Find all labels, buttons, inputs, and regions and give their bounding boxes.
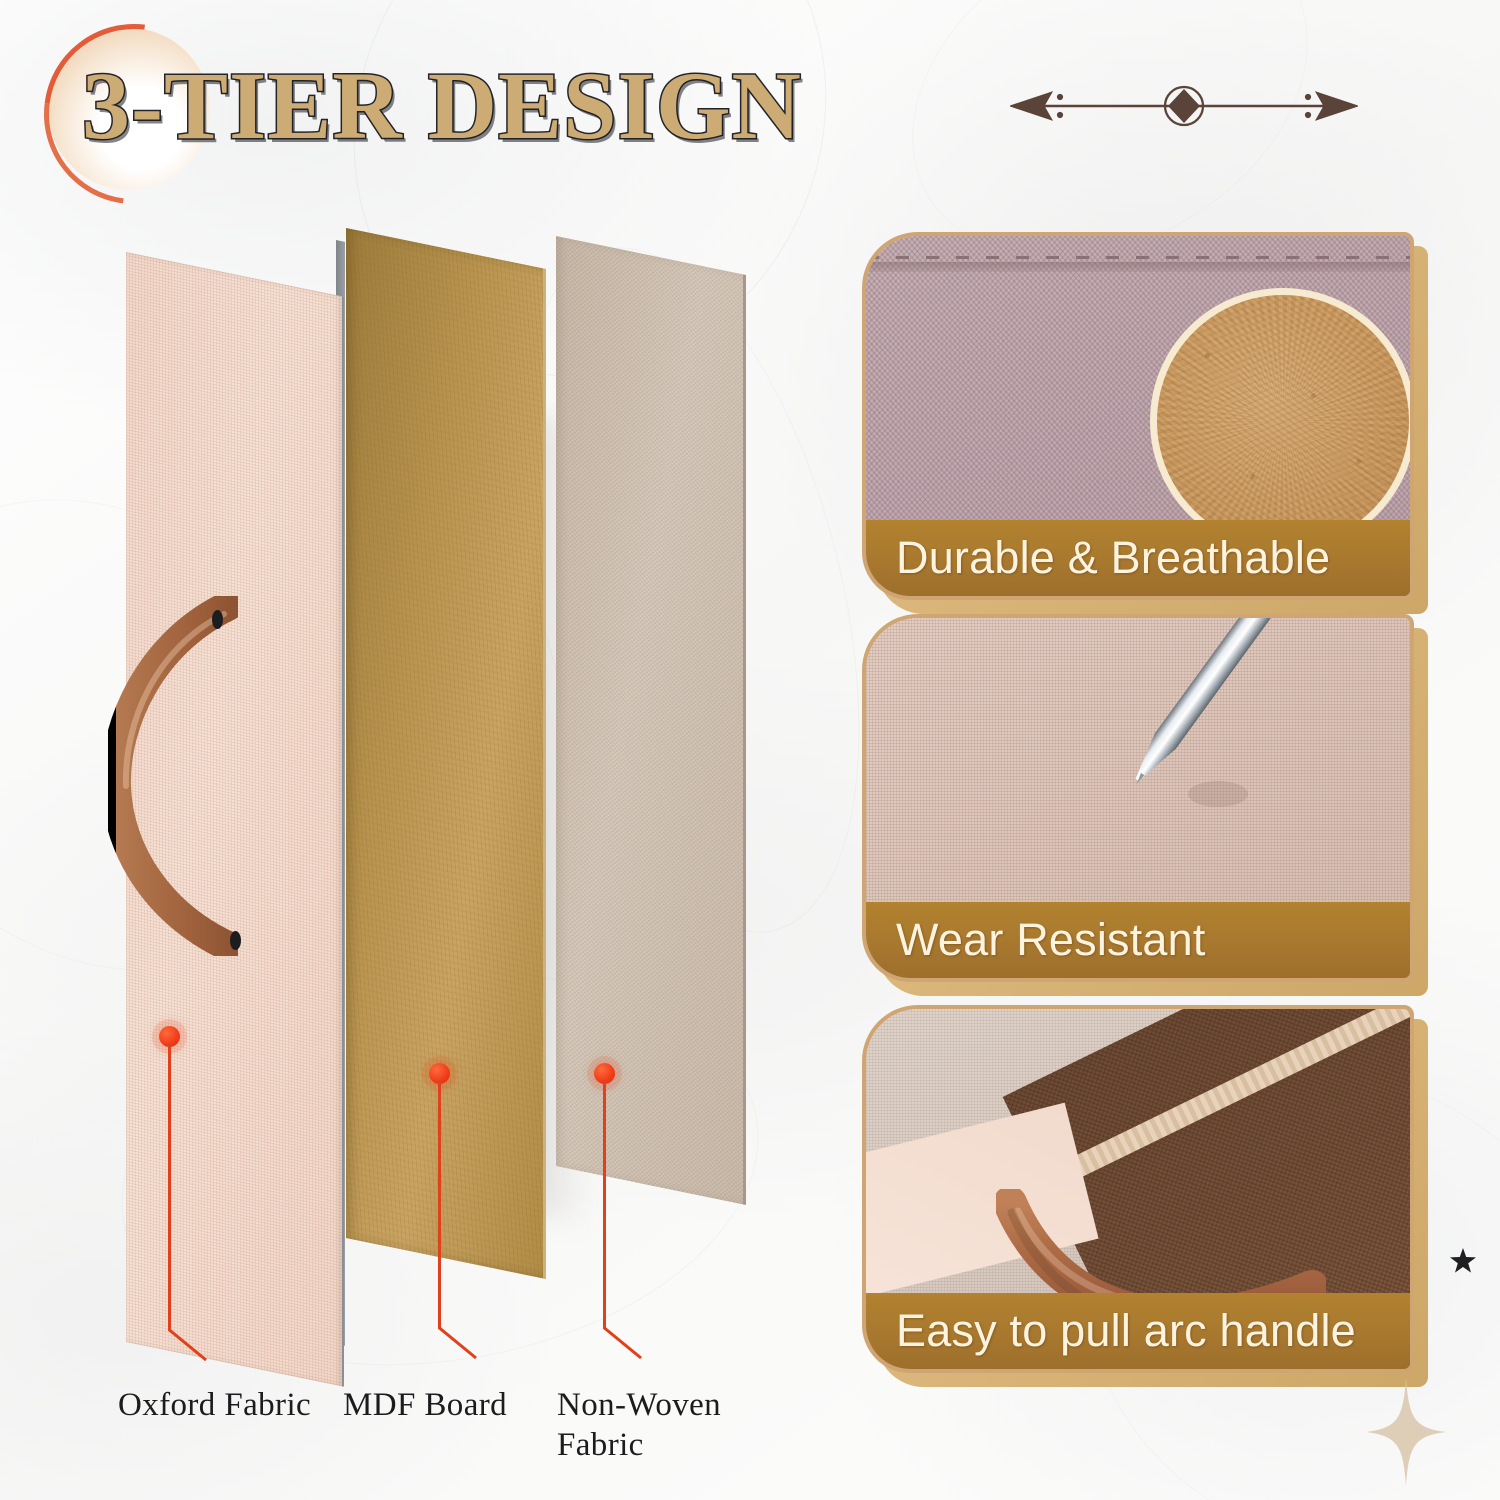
- exploded-layer-diagram: Oxford Fabric MDF Board Non-Woven Fabric: [0, 0, 840, 1500]
- layer-label-nonwoven-line2: Fabric: [557, 1427, 644, 1463]
- layer-label-nonwoven-line1: Non-Woven: [557, 1387, 721, 1423]
- fabric-seam: [866, 262, 1410, 272]
- card-body: Easy to pull arc handle: [862, 1005, 1414, 1373]
- card-caption-bar: Easy to pull arc handle: [866, 1293, 1410, 1369]
- leader-line-oxford: [120, 1030, 360, 1390]
- infographic-canvas: 3-TIER DESIGN: [0, 0, 1500, 1500]
- card-caption-bar: Durable & Breathable: [866, 520, 1410, 596]
- feature-card-handle[interactable]: Easy to pull arc handle: [862, 1005, 1414, 1373]
- ornamental-divider-icon: [1010, 84, 1358, 128]
- feature-caption-wear: Wear Resistant: [896, 914, 1206, 966]
- arc-handle-icon: [108, 596, 238, 956]
- card-caption-bar: Wear Resistant: [866, 902, 1410, 978]
- layer-label-nonwoven: Non-Woven Fabric: [557, 1385, 787, 1466]
- feature-caption-durable: Durable & Breathable: [896, 532, 1330, 584]
- five-point-star-icon: [1450, 1248, 1476, 1274]
- layer-label-mdf: MDF Board: [343, 1385, 507, 1425]
- layer-label-oxford: Oxford Fabric: [118, 1385, 311, 1425]
- stitch-line: [866, 256, 1410, 259]
- card-body: Wear Resistant: [862, 614, 1414, 982]
- feature-caption-handle: Easy to pull arc handle: [896, 1305, 1356, 1357]
- layer-panel-nonwoven: [556, 236, 746, 1205]
- handle-screw-hole: [212, 610, 223, 629]
- four-point-sparkle-icon: [1366, 1378, 1446, 1486]
- leader-line-nonwoven: [565, 1068, 765, 1398]
- card-body: Durable & Breathable: [862, 232, 1414, 600]
- feature-card-wear[interactable]: Wear Resistant: [862, 614, 1414, 982]
- steel-needle-icon: [1076, 614, 1316, 814]
- feature-card-durable[interactable]: Durable & Breathable: [862, 232, 1414, 600]
- handle-screw-hole: [230, 931, 241, 950]
- cork-texture-circle-icon: [1150, 288, 1414, 554]
